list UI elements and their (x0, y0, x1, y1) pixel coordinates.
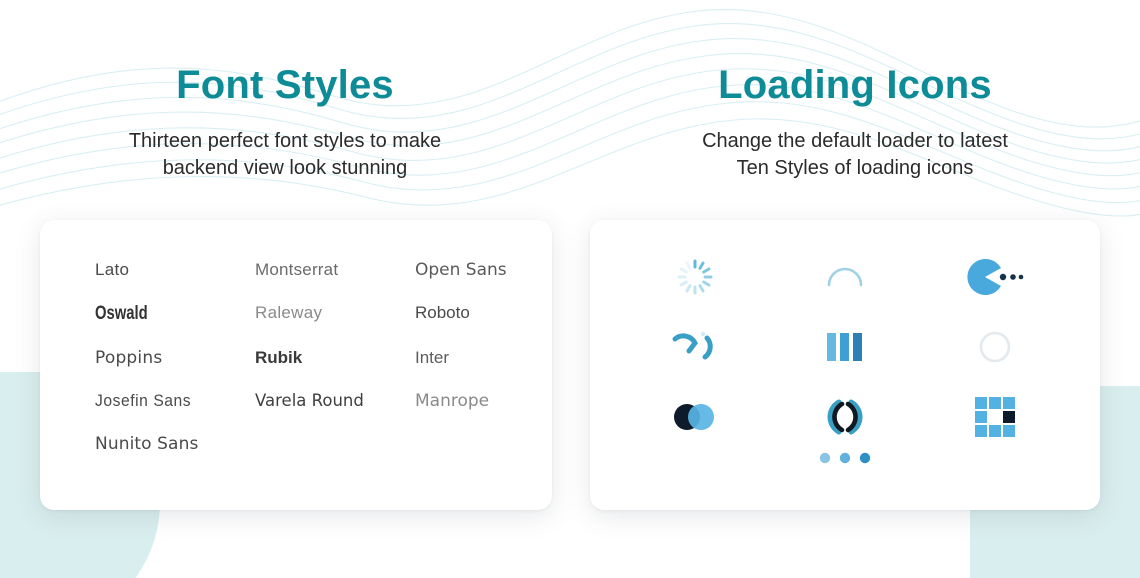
font-grid-spacer-1 (255, 434, 415, 454)
three-dots-icon-wrapper (590, 450, 1100, 471)
section-loading-icons: Loading Icons Change the default loader … (570, 0, 1140, 578)
font-item-manrope[interactable]: Manrope (415, 391, 535, 411)
font-item-varela-round[interactable]: Varela Round (255, 391, 415, 411)
font-item-open-sans[interactable]: Open Sans (415, 260, 535, 280)
dual-circle-icon[interactable] (660, 386, 730, 448)
radial-dash-spinner-icon[interactable] (660, 246, 730, 308)
loading-icons-card (590, 220, 1100, 510)
subtitle-loading-icons: Change the default loader to latest Ten … (570, 128, 1140, 182)
font-styles-card: Lato Montserrat Open Sans Oswald Raleway… (40, 220, 552, 510)
font-item-roboto[interactable]: Roboto (415, 303, 535, 325)
section-font-styles: Font Styles Thirteen perfect font styles… (0, 0, 570, 578)
page-title-loading-icons: Loading Icons (570, 63, 1140, 107)
font-item-nunito-sans[interactable]: Nunito Sans (95, 434, 255, 454)
three-dots-icon[interactable] (817, 450, 873, 471)
three-bars-icon[interactable] (810, 316, 880, 378)
split-ring-spinner-icon[interactable] (660, 316, 730, 378)
arc-spinner-icon[interactable] (810, 246, 880, 308)
font-item-oswald[interactable]: Oswald (95, 303, 220, 325)
font-item-poppins[interactable]: Poppins (95, 348, 255, 368)
circle-outline-icon[interactable] (960, 316, 1030, 378)
font-list-grid: Lato Montserrat Open Sans Oswald Raleway… (95, 260, 515, 454)
subtitle-line-1: Thirteen perfect font styles to make (129, 130, 441, 152)
font-grid-spacer-2 (415, 434, 535, 454)
pacman-dots-icon[interactable] (960, 246, 1030, 308)
font-item-raleway[interactable]: Raleway (255, 303, 415, 325)
subtitle-line-1: Change the default loader to latest (702, 130, 1008, 152)
facing-arcs-icon[interactable] (810, 386, 880, 448)
square-grid-icon[interactable] (960, 386, 1030, 448)
page-title-font-styles: Font Styles (0, 63, 570, 107)
subtitle-line-2: backend view look stunning (163, 157, 408, 179)
loader-icon-grid (620, 242, 1070, 452)
font-item-rubik[interactable]: Rubik (255, 348, 415, 368)
font-item-montserrat[interactable]: Montserrat (255, 260, 415, 280)
page-canvas: Font Styles Thirteen perfect font styles… (0, 0, 1140, 578)
font-item-inter[interactable]: Inter (415, 348, 535, 368)
subtitle-font-styles: Thirteen perfect font styles to make bac… (0, 128, 570, 182)
font-item-josefin-sans[interactable]: Josefin Sans (95, 391, 242, 411)
font-item-lato[interactable]: Lato (95, 260, 255, 280)
subtitle-line-2: Ten Styles of loading icons (737, 157, 974, 179)
